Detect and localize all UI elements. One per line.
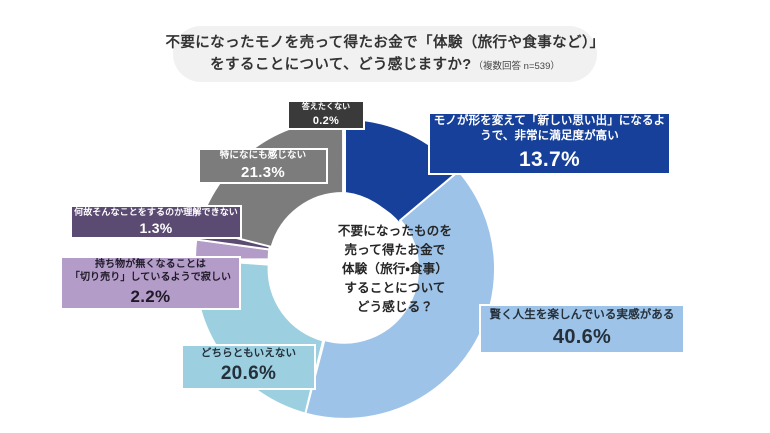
callout-no-answer-line-1: 答えたくない <box>302 102 351 112</box>
callout-lonely-percent: 2.2% <box>131 286 171 308</box>
callout-no-answer[interactable]: 答えたくない 0.2% <box>287 100 365 130</box>
callout-no-understand-line-1: 何故そんなことをするのか理解できない <box>74 207 238 219</box>
callout-lonely-line-2: 「切り売り」しているようで寂しい <box>70 271 231 285</box>
callout-neutral-percent: 20.6% <box>221 362 276 387</box>
sample-size-note: （複数回答 n=539） <box>474 60 560 75</box>
page-title-line-1: 不要になったモノを売って得たお金で「体験（旅行や食事など）」 <box>165 32 604 54</box>
callout-satisfied[interactable]: モノが形を変えて「新しい思い出」になるよ うで、非常に満足度が高い 13.7% <box>428 112 671 175</box>
page-title-line-2-text: をすることについて、どう感じますか? <box>210 54 471 76</box>
donut-hole <box>273 197 417 341</box>
callout-no-understand[interactable]: 何故そんなことをするのか理解できない 1.3% <box>70 205 242 239</box>
callout-lonely-line-1: 持ち物が無くなることは <box>95 258 206 272</box>
chart-title-banner: 不要になったモノを売って得たお金で「体験（旅行や食事など）」 をすることについて… <box>173 26 597 82</box>
callout-no-understand-percent: 1.3% <box>139 219 172 237</box>
callout-nothing[interactable]: 特になにも感じない 21.3% <box>198 148 328 184</box>
callout-wise-line-1: 賢く人生を楽しんでいる実感がある <box>489 308 674 323</box>
callout-neutral[interactable]: どちらともいえない 20.6% <box>181 344 316 390</box>
callout-neutral-line-1: どちらともいえない <box>201 347 296 361</box>
callout-wise[interactable]: 賢く人生を楽しんでいる実感がある 40.6% <box>479 304 685 354</box>
callout-satisfied-line-1: モノが形を変えて「新しい思い出」になるよ <box>434 114 665 130</box>
callout-wise-percent: 40.6% <box>553 324 611 350</box>
callout-satisfied-line-2: うで、非常に満足度が高い <box>480 129 619 145</box>
callout-no-answer-percent: 0.2% <box>313 114 339 128</box>
callout-nothing-percent: 21.3% <box>241 163 285 183</box>
survey-infographic: 不要になったモノを売って得たお金で「体験（旅行や食事など）」 をすることについて… <box>0 0 770 433</box>
page-title-line-2: をすることについて、どう感じますか?（複数回答 n=539） <box>210 54 560 76</box>
callout-lonely[interactable]: 持ち物が無くなることは 「切り売り」しているようで寂しい 2.2% <box>60 256 241 310</box>
callout-satisfied-percent: 13.7% <box>519 146 580 173</box>
callout-nothing-line-1: 特になにも感じない <box>220 150 306 162</box>
donut-slice-no-answer[interactable] <box>343 119 345 193</box>
